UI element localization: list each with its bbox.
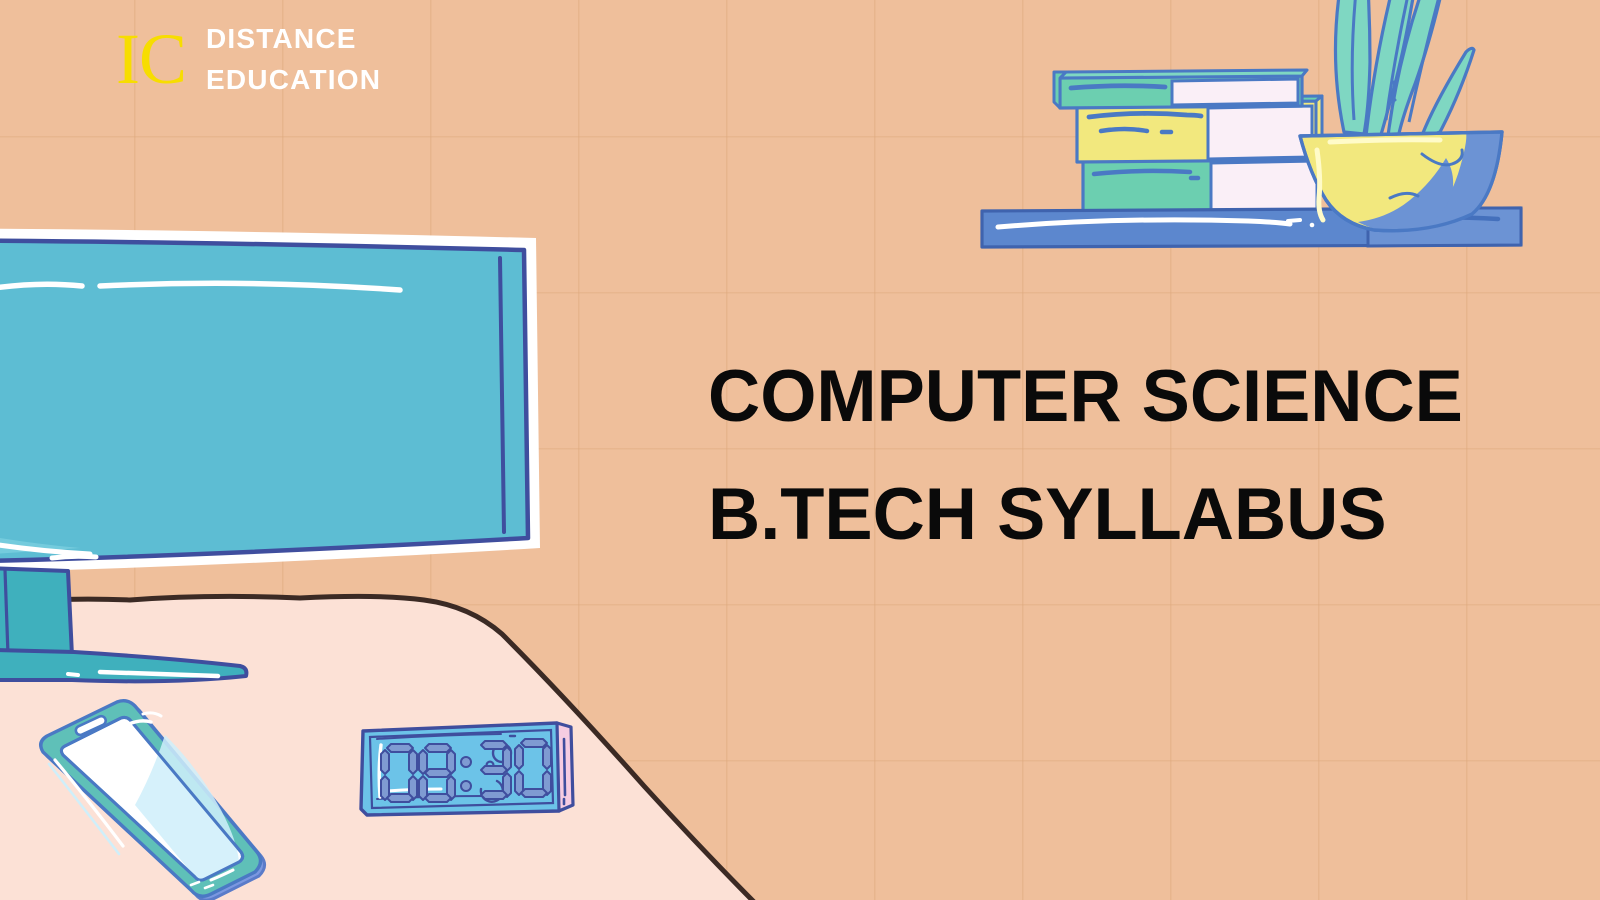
logo-word-education: EDUCATION <box>206 59 381 100</box>
monitor <box>0 228 560 698</box>
phone-body <box>41 701 265 900</box>
headline-line-2: B.TECH SYLLABUS <box>708 456 1530 574</box>
plant-pot <box>1300 132 1502 232</box>
logo-word-distance: DISTANCE <box>206 18 381 59</box>
logo-mark-ic: IC <box>116 26 186 92</box>
potted-plant <box>1270 0 1570 240</box>
logo-wordmark: DISTANCE EDUCATION <box>206 18 381 101</box>
plant-leaves <box>1335 0 1474 138</box>
syllabus-banner: IC DISTANCE EDUCATION COMPUTER SCIENCE B… <box>0 0 1600 900</box>
brand-logo[interactable]: IC DISTANCE EDUCATION <box>116 18 381 101</box>
headline-line-1: COMPUTER SCIENCE <box>708 338 1530 456</box>
headline: COMPUTER SCIENCE B.TECH SYLLABUS <box>708 338 1538 575</box>
smartphone <box>25 700 285 900</box>
digital-clock <box>355 705 595 830</box>
